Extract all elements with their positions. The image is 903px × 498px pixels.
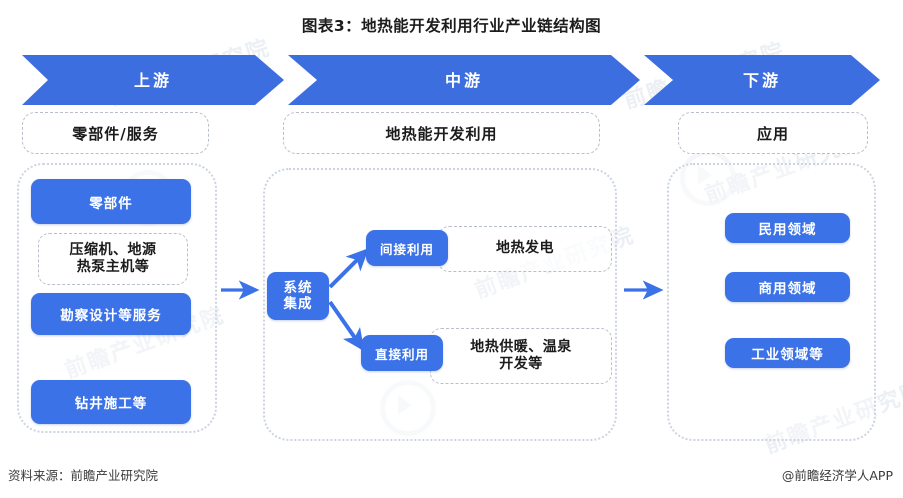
column-header-downstream: 应用 (678, 112, 868, 154)
downstream-box-industrial[interactable]: 工业领域等 (725, 338, 850, 368)
midstream-node-direct-use[interactable]: 直接利用 (361, 335, 443, 371)
source-note: 资料来源：前瞻产业研究院 (8, 465, 158, 484)
banner-segment-midstream[interactable]: 中游 (288, 55, 640, 105)
midstream-hub-system-integration[interactable]: 系统 集成 (267, 272, 329, 320)
midstream-node-indirect-use[interactable]: 间接利用 (366, 230, 448, 266)
banner-label-downstream: 下游 (743, 67, 781, 91)
credit-note: @前瞻经济学人APP (782, 465, 893, 484)
column-header-midstream: 地热能开发利用 (283, 112, 600, 154)
banner-segment-downstream[interactable]: 下游 (644, 55, 880, 105)
panel-downstream (667, 163, 876, 441)
upstream-box-compressor: 压缩机、地源 热泵主机等 (38, 233, 188, 285)
infographic-canvas: 前瞻产业研究院 前瞻产业研究院 前瞻产业研究院 前瞻产业研究院 前瞻产业研究院 … (0, 0, 903, 498)
midstream-target-geothermal-power: 地热发电 (438, 226, 612, 272)
midstream-target-heating-hotspring: 地热供暖、温泉 开发等 (430, 328, 612, 384)
downstream-box-commercial[interactable]: 商用领域 (725, 272, 850, 302)
upstream-box-parts[interactable]: 零部件 (31, 179, 191, 224)
column-header-upstream: 零部件/服务 (22, 112, 209, 154)
banner-label-upstream: 上游 (134, 67, 172, 91)
downstream-box-residential[interactable]: 民用领域 (725, 213, 850, 243)
page-title: 图表3：地热能开发利用行业产业链结构图 (0, 14, 903, 36)
banner-segment-upstream[interactable]: 上游 (22, 55, 284, 105)
upstream-box-drilling[interactable]: 钻井施工等 (31, 380, 191, 424)
stage-banner: 上游 中游 下游 (22, 55, 880, 105)
banner-label-midstream: 中游 (445, 67, 483, 91)
upstream-box-survey-design[interactable]: 勘察设计等服务 (31, 293, 191, 335)
